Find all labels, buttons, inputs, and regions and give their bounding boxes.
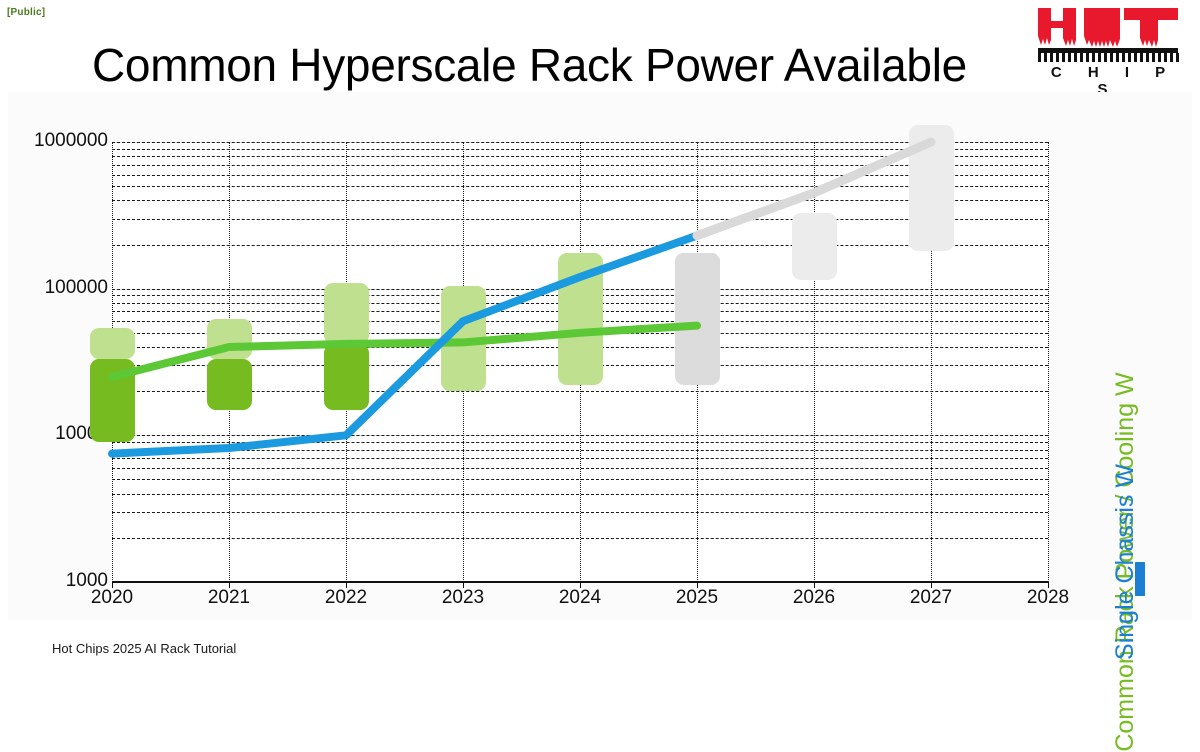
x-axis-tick-label: 2020	[72, 587, 152, 609]
logo-pin	[1062, 53, 1065, 62]
logo-pin	[1158, 53, 1161, 62]
logo-pin	[1074, 53, 1077, 62]
hot-chips-logo: C H I P S	[1032, 6, 1184, 84]
logo-hot-svg	[1032, 6, 1184, 50]
logo-pin	[1038, 53, 1041, 62]
logo-pin	[1146, 53, 1149, 62]
logo-hot-wordmark	[1032, 6, 1184, 50]
logo-pin	[1164, 53, 1167, 62]
x-axis-tick-label: 2022	[306, 587, 386, 609]
series-line-projected	[697, 142, 931, 236]
legend-swatch-single-chassis	[1135, 562, 1145, 596]
slide-footer: Hot Chips 2025 AI Rack Tutorial	[52, 641, 236, 656]
logo-pin	[1134, 53, 1137, 62]
x-axis-tick-label: 2028	[1008, 587, 1088, 609]
logo-pin	[1098, 53, 1101, 62]
logo-pin	[1110, 53, 1113, 62]
logo-pin	[1092, 53, 1095, 62]
x-axis-tick-label: 2026	[774, 587, 854, 609]
y-axis-tick-label: 100000	[45, 277, 108, 299]
y-axis-tick-label: 1000000	[34, 130, 108, 152]
x-axis-tick-label: 2021	[189, 587, 269, 609]
logo-pin	[1128, 53, 1131, 62]
logo-pin	[1044, 53, 1047, 62]
logo-pin	[1122, 53, 1125, 62]
logo-pin	[1068, 53, 1071, 62]
legend-item-single-chassis[interactable]: Single Chassis W	[1086, 332, 1194, 596]
series-line-common-rack-power-cooling-w	[112, 326, 697, 377]
logo-pin	[1056, 53, 1059, 62]
logo-pin	[1086, 53, 1089, 62]
classification-marking: [Public]	[7, 7, 45, 18]
x-axis-tick-label: 2024	[540, 587, 620, 609]
logo-pin	[1050, 53, 1053, 62]
series-lines	[112, 142, 1048, 582]
logo-pin	[1116, 53, 1119, 62]
logo-chip-pins	[1038, 53, 1178, 62]
year-gridline	[1048, 142, 1049, 582]
logo-pin	[1170, 53, 1173, 62]
logo-pin	[1080, 53, 1083, 62]
page-title: Common Hyperscale Rack Power Available	[92, 38, 967, 92]
logo-pin	[1104, 53, 1107, 62]
logo-pin	[1152, 53, 1155, 62]
plot-area	[112, 142, 1048, 582]
chart-panel: 1000100001000001000000 20202021202220232…	[8, 92, 1192, 620]
chart-legend: Common Rack Power / Cooling WSingle Chas…	[1086, 96, 1194, 608]
x-axis-tick-label: 2027	[891, 587, 971, 609]
x-axis-tick-label: 2023	[423, 587, 503, 609]
x-axis-tick-label: 2025	[657, 587, 737, 609]
logo-pin	[1140, 53, 1143, 62]
logo-pin	[1176, 53, 1179, 62]
x-axis-labels: 202020212022202320242025202620272028	[112, 587, 1048, 617]
